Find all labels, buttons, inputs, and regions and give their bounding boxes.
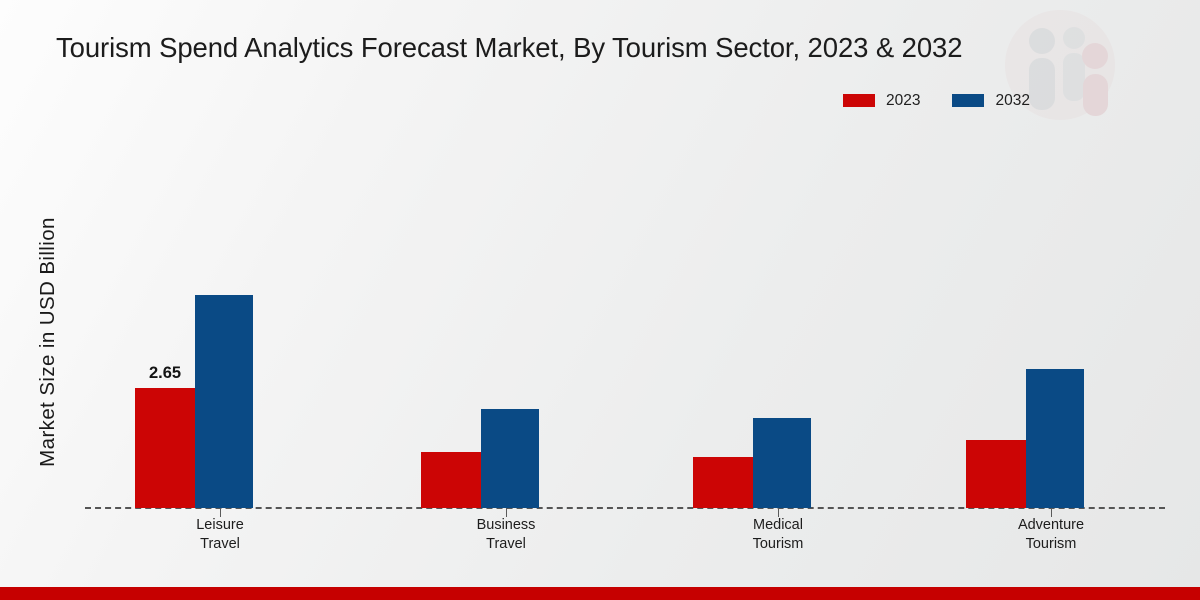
bar-2032-business-travel[interactable]: [481, 409, 539, 508]
bar-group-adventure-tourism: Adventure Tourism: [895, 130, 1165, 508]
x-label-line-1: Medical: [753, 517, 803, 533]
x-label-business-travel: Business Travel: [477, 516, 536, 554]
bar-2023-adventure-tourism[interactable]: [966, 440, 1026, 508]
chart-legend: 2023 2032: [843, 93, 1030, 109]
bar-group-business-travel: Business Travel: [355, 130, 625, 508]
legend-item-2023[interactable]: 2023: [843, 93, 920, 109]
bar-group-medical-tourism: Medical Tourism: [625, 130, 895, 508]
x-label-line-2: Tourism: [753, 536, 804, 552]
chart-title: Tourism Spend Analytics Forecast Market,…: [56, 32, 1166, 64]
bar-2023-leisure-travel[interactable]: 2.65: [135, 388, 195, 508]
x-label-line-2: Tourism: [1026, 536, 1077, 552]
x-label-line-2: Travel: [200, 536, 240, 552]
plot-area: 2.65 Leisure Travel Business Travel: [85, 130, 1165, 508]
x-label-adventure-tourism: Adventure Tourism: [1018, 516, 1084, 554]
legend-label-2032: 2032: [995, 93, 1029, 109]
bar-value-2023-leisure-travel: 2.65: [149, 364, 181, 383]
x-label-line-2: Travel: [486, 536, 526, 552]
bottom-accent-band: [0, 587, 1200, 600]
y-axis-title: Market Size in USD Billion: [36, 142, 60, 542]
bar-2032-leisure-travel[interactable]: [195, 295, 253, 508]
bar-group-leisure-travel: 2.65 Leisure Travel: [85, 130, 355, 508]
bar-2032-medical-tourism[interactable]: [753, 418, 811, 508]
x-label-leisure-travel: Leisure Travel: [196, 516, 244, 554]
legend-swatch-2032: [952, 94, 984, 107]
x-label-line-1: Business: [477, 517, 536, 533]
legend-label-2023: 2023: [886, 93, 920, 109]
legend-swatch-2023: [843, 94, 875, 107]
x-label-line-1: Leisure: [196, 517, 244, 533]
bar-2023-business-travel[interactable]: [421, 452, 481, 508]
bar-2023-medical-tourism[interactable]: [693, 457, 753, 508]
legend-item-2032[interactable]: 2032: [952, 93, 1029, 109]
x-label-line-1: Adventure: [1018, 517, 1084, 533]
x-label-medical-tourism: Medical Tourism: [753, 516, 804, 554]
bar-2032-adventure-tourism[interactable]: [1026, 369, 1084, 508]
